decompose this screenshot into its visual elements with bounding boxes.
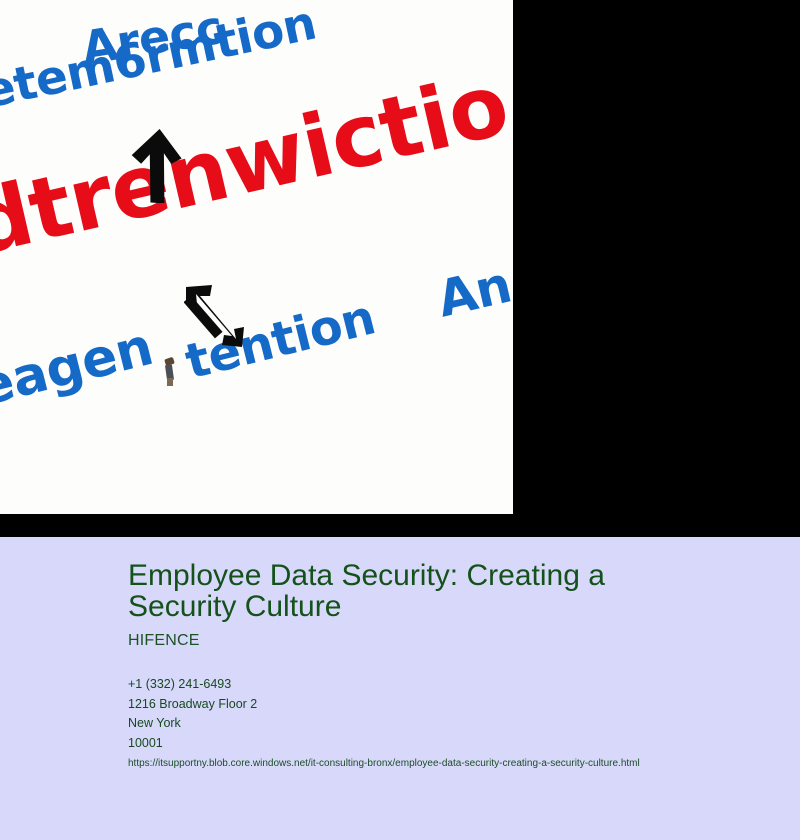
- page-title: Employee Data Security: Creating a Secur…: [128, 560, 688, 622]
- wordart-eagen: eagen: [0, 317, 159, 418]
- contact-block: +1 (332) 241-6493 1216 Broadway Floor 2 …: [128, 675, 728, 753]
- contact-city: New York: [128, 714, 728, 734]
- contact-phone: +1 (332) 241-6493: [128, 675, 728, 695]
- contact-postal-code: 10001: [128, 734, 728, 754]
- person-figure-icon: [163, 358, 176, 386]
- media-band: Arecc etem6rmtion dtrenwictio eagen tent…: [0, 0, 800, 537]
- arrow-up-icon: [131, 129, 187, 203]
- arrow-double-diagonal-icon: [184, 283, 246, 349]
- info-panel: Employee Data Security: Creating a Secur…: [0, 537, 800, 840]
- brand-name: HIFENCE: [128, 632, 200, 650]
- source-url[interactable]: https://itsupportny.blob.core.windows.ne…: [128, 758, 640, 770]
- hero-image: Arecc etem6rmtion dtrenwictio eagen tent…: [0, 0, 513, 514]
- wordart-an: An: [432, 256, 513, 329]
- person-legs: [167, 378, 173, 386]
- contact-street: 1216 Broadway Floor 2: [128, 695, 728, 715]
